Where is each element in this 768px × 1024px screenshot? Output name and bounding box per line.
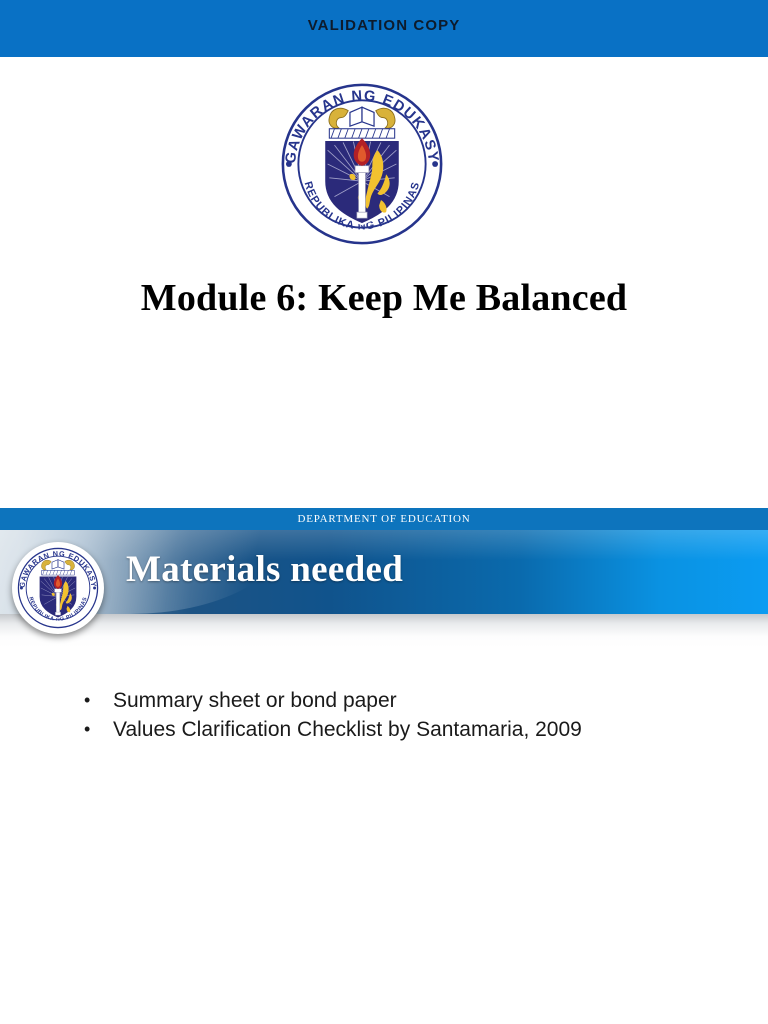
deped-seal-small: KAGAWARAN NG EDUKASYON REPUBLIKA NG PILI… [12, 542, 104, 634]
bullet-icon: • [84, 686, 113, 715]
bullet-icon: • [84, 715, 113, 744]
deped-seal-large: KAGAWARAN NG EDUKASYON REPUBLIKA NG PILI… [268, 78, 456, 250]
validation-copy-label: VALIDATION COPY [0, 17, 768, 34]
banner-shadow [0, 614, 768, 648]
validation-copy-bar: VALIDATION COPY [0, 0, 768, 57]
section-banner: Materials needed [0, 530, 768, 614]
list-item: • Values Clarification Checklist by Sant… [84, 715, 724, 744]
list-item-label: Summary sheet or bond paper [113, 686, 724, 715]
section-title: Materials needed [126, 548, 403, 591]
department-label: DEPARTMENT OF EDUCATION [0, 513, 768, 525]
materials-list: • Summary sheet or bond paper • Values C… [84, 686, 724, 744]
department-band: DEPARTMENT OF EDUCATION [0, 508, 768, 532]
list-item: • Summary sheet or bond paper [84, 686, 724, 715]
list-item-label: Values Clarification Checklist by Santam… [113, 715, 724, 744]
module-title: Module 6: Keep Me Balanced [0, 276, 768, 320]
